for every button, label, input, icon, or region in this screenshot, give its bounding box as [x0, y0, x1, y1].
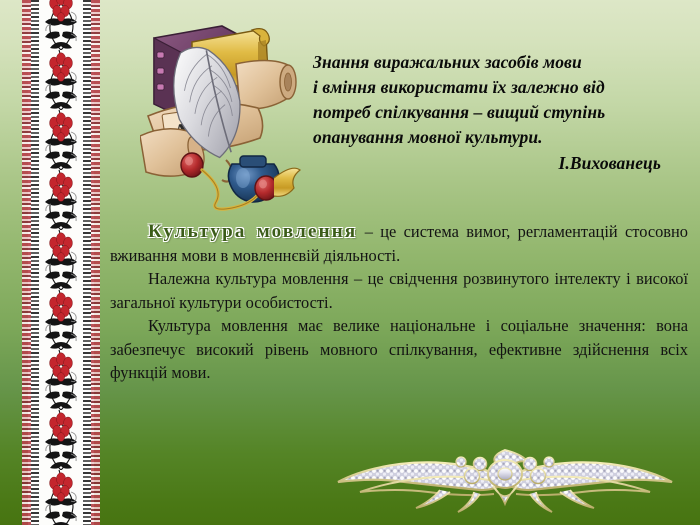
embroidery-floral-strip [39, 0, 83, 525]
embroidery-motif [39, 470, 83, 525]
paragraph-definition: Культура мовлення – це система вимог, ре… [110, 220, 688, 267]
ornament-centre [488, 450, 528, 504]
quote-line-4: опанування мовної культури. [313, 125, 673, 150]
embroidery-motif [39, 410, 83, 470]
wax-seal-left [181, 153, 203, 177]
quote-line-2: і вміння використати їх залежно від [313, 75, 673, 100]
embroidery-motif [39, 0, 83, 50]
embroidery-rail-inner-left [31, 0, 39, 525]
book-scroll-quill-inkwell-illustration: A [140, 12, 304, 212]
embroidery-motif [39, 170, 83, 230]
embroidery-border [22, 0, 100, 525]
embroidery-edge-left [22, 0, 31, 525]
quote-line-1: Знання виражальних засобів мови [313, 50, 673, 75]
embroidery-motif [39, 50, 83, 110]
embroidery-motif [39, 290, 83, 350]
key-term-kultura-movlennya: Культура мовлення [148, 221, 357, 242]
paragraph-intellect: Належна культура мовлення – це свідчення… [110, 267, 688, 314]
quote-author: І.Вихованець [313, 151, 673, 176]
embroidery-motif [39, 230, 83, 290]
embroidery-edge-right [91, 0, 100, 525]
silver-diamond-flourish-ornament [330, 448, 680, 514]
body-text-block: Культура мовлення – це система вимог, ре… [110, 220, 688, 385]
quote-line-3: потреб спілкування – вищий ступінь [313, 100, 673, 125]
paragraph-significance: Культура мовлення має велике національне… [110, 314, 688, 385]
parchment-scroll-right [236, 60, 296, 108]
embroidery-rail-inner-right [83, 0, 91, 525]
embroidery-motif [39, 110, 83, 170]
presentation-slide: A [0, 0, 700, 525]
embroidery-motif [39, 350, 83, 410]
epigraph-quote: Знання виражальних засобів мови і вміння… [313, 50, 673, 176]
